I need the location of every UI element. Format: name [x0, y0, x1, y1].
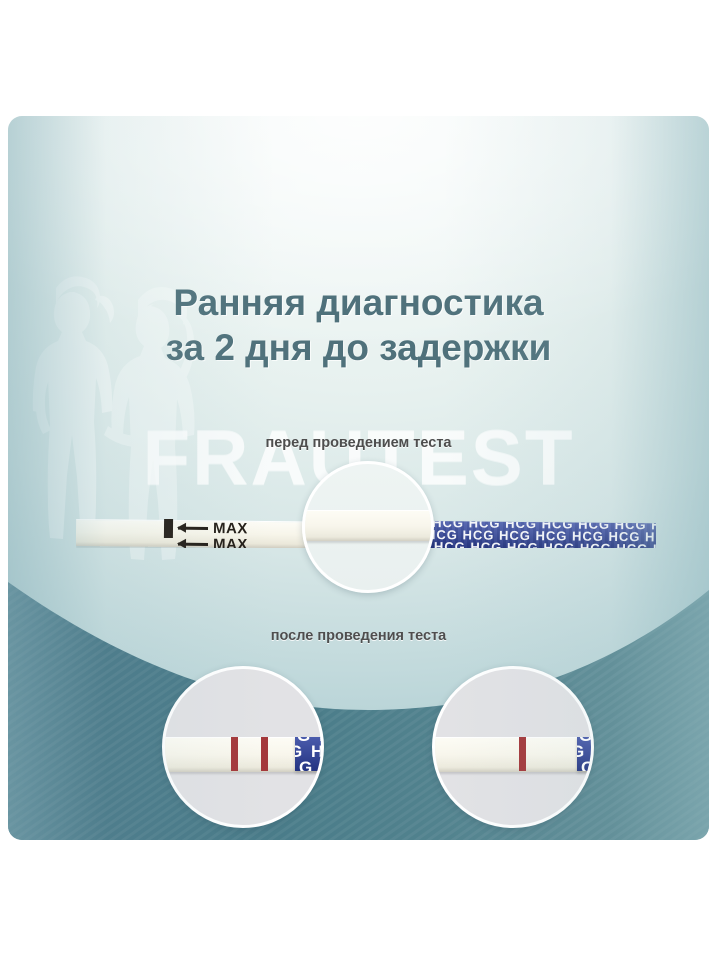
- max-label: MAX: [213, 536, 248, 548]
- max-marker-row: MAX: [178, 536, 248, 548]
- strip-handle-hcg: HCG HCG HCG HCG HCG HCG HCG HCG HCG HCG …: [428, 521, 656, 548]
- section-label-before: перед проведением теста: [8, 435, 709, 451]
- hcg-text-row: HCG HCG HCG HCG HCG HCG HCG: [434, 539, 656, 548]
- magnifier-result-pregnant: G H G H G H: [162, 666, 324, 828]
- max-label: MAX: [213, 520, 248, 537]
- page-title: Ранняя диагностика за 2 дня до задержки: [8, 280, 709, 370]
- hcg-text-row: G H: [299, 758, 324, 771]
- result-line-control: [261, 737, 268, 771]
- result-line-control: [519, 737, 526, 771]
- promo-card: FRAUTEST Ранняя диаг: [8, 116, 709, 840]
- result-caption-not-pregnant: Не беременна: [360, 839, 660, 840]
- max-marker-block: [164, 519, 173, 538]
- arrow-left-icon: [178, 527, 208, 530]
- max-marker-row: MAX: [178, 520, 248, 538]
- teal-wave-band: [8, 560, 709, 840]
- result-line-test: [231, 737, 238, 771]
- magnified-strip: [432, 737, 594, 772]
- result-caption-pregnant: Беременна: [90, 839, 390, 840]
- magnifier-result-not-pregnant: G G G: [432, 666, 594, 828]
- strip-handle-hcg: G H G H G H: [295, 737, 324, 771]
- arrow-left-icon: [178, 543, 208, 546]
- strip-handle-hcg: G G G: [577, 737, 594, 771]
- magnified-strip: [302, 510, 434, 541]
- card-top-glow: [8, 116, 709, 416]
